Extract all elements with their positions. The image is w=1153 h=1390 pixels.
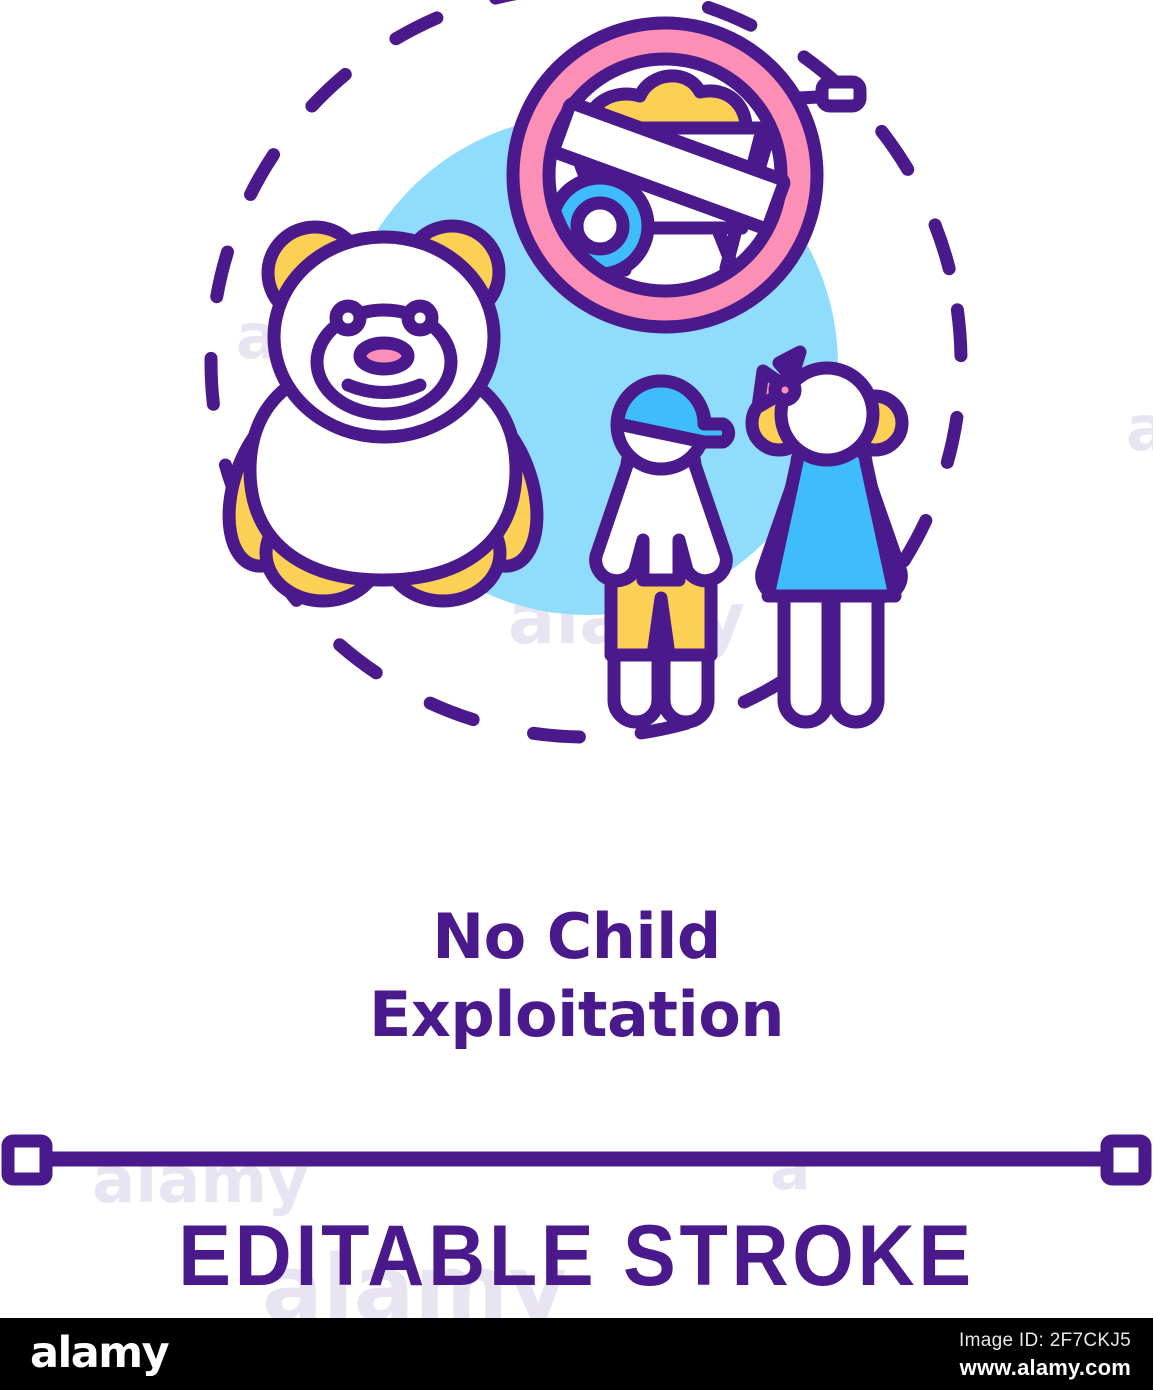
concept-icon-stock-image: aaaalamyalamyaalamya [0,0,1153,1390]
girl-figure [752,352,902,722]
bear-mouth [348,385,420,393]
wheelbarrow-hub [577,203,623,249]
bear-eye-right [408,306,432,330]
girl-leg-right [834,596,878,722]
page-title: No Child Exploitation [0,898,1153,1054]
footer-meta: Image ID: 2F7CKJ5 www.alamy.com [959,1328,1131,1382]
alamy-footer-bar: alamy Image ID: 2F7CKJ5 www.alamy.com [0,1318,1153,1390]
concept-illustration [0,0,1153,800]
alamy-logo: alamy [30,1330,168,1376]
title-line-1: No Child [0,898,1153,976]
stroke-handle-right [1107,1141,1145,1179]
bear-eye-left [336,306,360,330]
boy-figure [596,381,729,722]
stroke-width-indicator [0,1128,1153,1190]
title-line-2: Exploitation [0,976,1153,1054]
alamy-url: www.alamy.com [959,1354,1131,1382]
editable-stroke-label: EDITABLE STROKE [46,1210,1107,1302]
girl-bow-knot [775,380,795,400]
bear-nose [360,343,408,369]
girl-leg-left [784,596,828,722]
teddy-bear [211,226,555,601]
image-id-label: Image ID: 2F7CKJ5 [959,1328,1131,1354]
stroke-handle-left [8,1141,46,1179]
